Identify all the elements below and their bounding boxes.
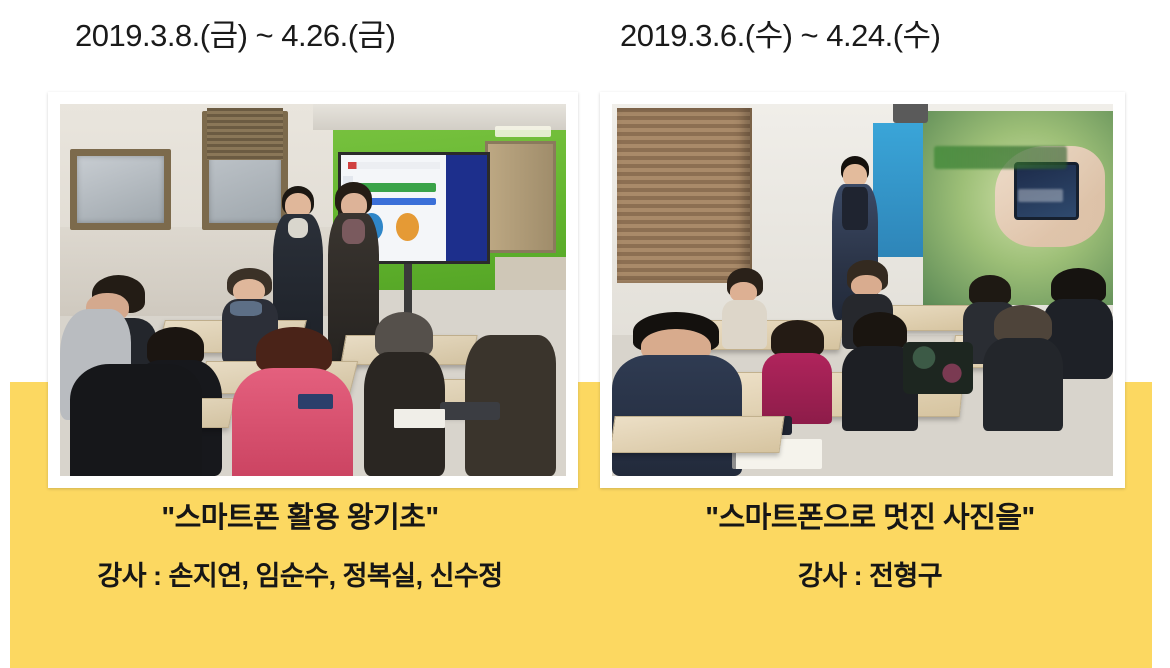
caption-title-left: "스마트폰 활용 왕기초" xyxy=(40,496,560,540)
side-counter xyxy=(495,257,566,290)
ceiling-projector xyxy=(893,104,928,123)
window-left xyxy=(70,149,171,231)
seated-person-e xyxy=(364,312,445,476)
projected-subtitle-text xyxy=(1018,189,1064,203)
floral-bag xyxy=(903,342,973,394)
caption-title-right: "스마트폰으로 멋진 사진을" xyxy=(610,496,1130,540)
caption-instructors-right: 강사 : 전형구 xyxy=(610,554,1130,598)
slide-canvas: 2019.3.8.(금) ~ 4.26.(금) xyxy=(0,0,1170,668)
bag-on-desk xyxy=(440,402,501,421)
door xyxy=(485,141,556,253)
classroom-photo-left xyxy=(60,104,566,476)
window-blinds xyxy=(617,108,752,283)
smartphone-on-desk xyxy=(298,394,333,409)
foreground-person-pink xyxy=(232,327,353,476)
caption-instructors-left: 강사 : 손지연, 임순수, 정복실, 신수정 xyxy=(40,554,560,598)
slide-top-bar xyxy=(348,162,440,169)
seated-person-g xyxy=(983,305,1063,431)
date-range-right: 2019.3.6.(수) ~ 4.24.(수) xyxy=(620,8,940,64)
foreground-person-dark xyxy=(70,364,202,476)
seated-person-e xyxy=(762,320,832,424)
classroom-photo-right xyxy=(612,104,1113,476)
projected-title-text xyxy=(934,146,1067,169)
caption-right: "스마트폰으로 멋진 사진을" 강사 : 전형구 xyxy=(610,496,1130,598)
photo-frame-left xyxy=(48,92,578,488)
date-range-left: 2019.3.8.(금) ~ 4.26.(금) xyxy=(75,8,395,64)
paper-on-desk xyxy=(394,409,445,428)
desk-5 xyxy=(612,416,785,453)
caption-left: "스마트폰 활용 왕기초" 강사 : 손지연, 임순수, 정복실, 신수정 xyxy=(40,496,560,598)
window-blind xyxy=(207,108,283,160)
slide-circle-orange xyxy=(396,213,419,240)
photo-frame-right xyxy=(600,92,1125,488)
ceiling-light xyxy=(495,126,551,137)
